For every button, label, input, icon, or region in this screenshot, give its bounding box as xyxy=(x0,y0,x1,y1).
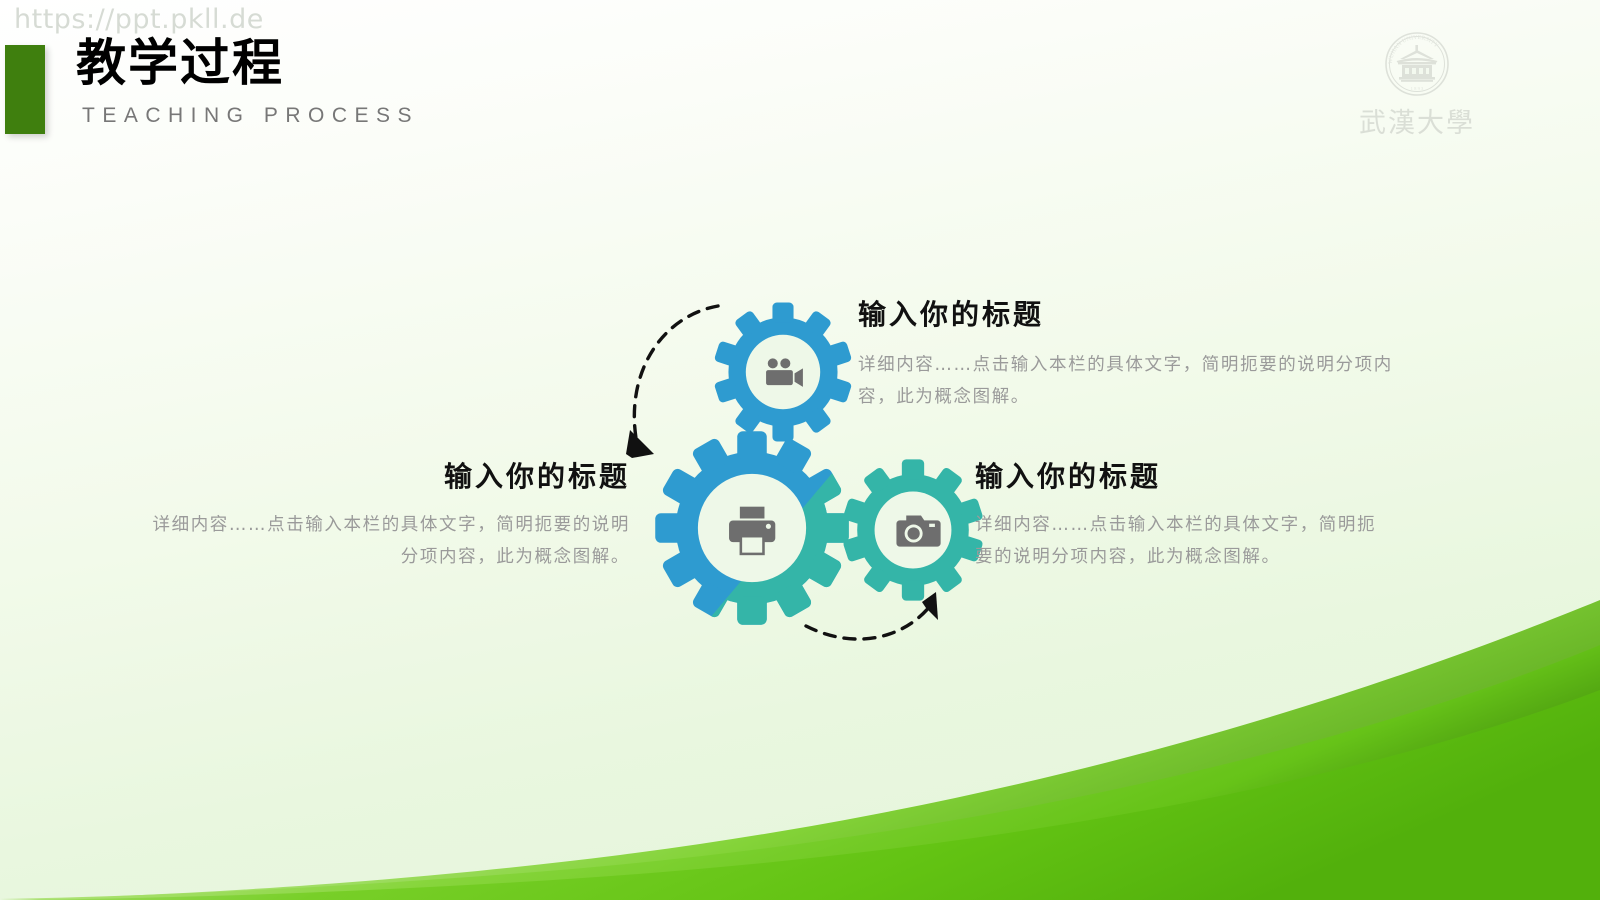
svg-text:武漢大學: 武漢大學 xyxy=(1359,108,1475,138)
gear-center xyxy=(655,431,849,625)
block-left-title: 输入你的标题 xyxy=(150,462,630,493)
text-block-top: 输入你的标题 详细内容……点击输入本栏的具体文字，简明扼要的说明分项内容，此为概… xyxy=(858,300,1398,414)
page-subtitle: TEACHING PROCESS xyxy=(82,104,419,128)
header-accent-square xyxy=(5,45,45,134)
text-block-left: 输入你的标题 详细内容……点击输入本栏的具体文字，简明扼要的说明分项内容，此为概… xyxy=(150,462,630,574)
gear-right xyxy=(842,459,983,600)
arrow-bottom xyxy=(806,606,930,639)
svg-text:1 8 9 3: 1 8 9 3 xyxy=(1411,86,1424,91)
gear-top xyxy=(714,303,853,442)
site-watermark: https://ppt.pkll.de xyxy=(14,4,264,35)
wuhan-university-logo: WUHAN UNIVERSITY 1 8 9 3 武漢大學 xyxy=(1352,28,1482,143)
block-top-body: 详细内容……点击输入本栏的具体文字，简明扼要的说明分项内容，此为概念图解。 xyxy=(858,349,1398,414)
arrow-bottom-head xyxy=(922,592,938,620)
arrow-left xyxy=(634,306,718,438)
block-left-body: 详细内容……点击输入本栏的具体文字，简明扼要的说明分项内容，此为概念图解。 xyxy=(150,509,630,574)
slide-canvas: https://ppt.pkll.de 教学过程 TEACHING PROCES… xyxy=(0,0,1600,900)
block-right-title: 输入你的标题 xyxy=(975,462,1395,493)
block-top-title: 输入你的标题 xyxy=(858,300,1398,331)
block-right-body: 详细内容……点击输入本栏的具体文字，简明扼要的说明分项内容，此为概念图解。 xyxy=(975,509,1395,574)
text-block-right: 输入你的标题 详细内容……点击输入本栏的具体文字，简明扼要的说明分项内容，此为概… xyxy=(975,462,1395,574)
page-title: 教学过程 xyxy=(76,38,284,88)
arrow-left-head xyxy=(626,430,654,458)
